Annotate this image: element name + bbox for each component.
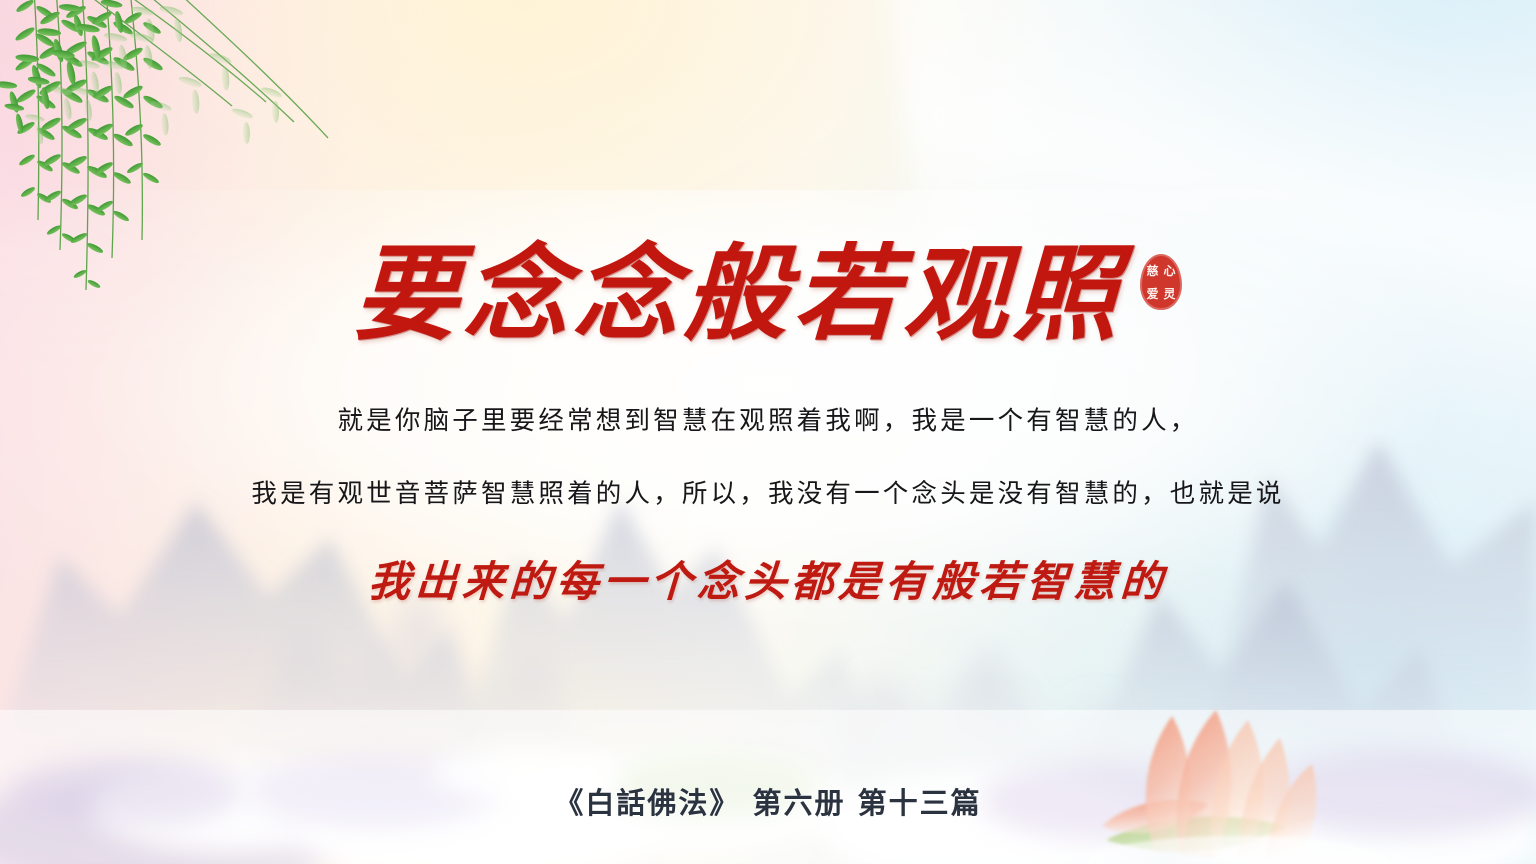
slide-content: 要念念般若观照 慈 心 爱 灵 就是你脑子里要经常想到智慧在观照着我啊，我是一个… (0, 0, 1536, 864)
body-line-2: 我是有观世音菩萨智慧照着的人，所以，我没有一个念头是没有智慧的，也就是说 (0, 473, 1536, 510)
seal-char-3: 爱 (1146, 288, 1158, 300)
seal-char-4: 灵 (1163, 288, 1175, 300)
seal-char-2: 心 (1163, 265, 1175, 277)
source-citation: 《白話佛法》 第六册 第十三篇 (0, 780, 1536, 822)
seal-characters: 慈 心 爱 灵 (1144, 259, 1178, 305)
title-row: 要念念般若观照 慈 心 爱 灵 (0, 238, 1536, 350)
body-line-1: 就是你脑子里要经常想到智慧在观照着我啊，我是一个有智慧的人， (0, 400, 1536, 437)
highlight-line: 我出来的每一个念头都是有般若智慧的 (0, 548, 1536, 609)
seal-stamp-icon: 慈 心 爱 灵 (1140, 254, 1182, 310)
seal-char-1: 慈 (1146, 265, 1158, 277)
slide-canvas: 要念念般若观照 慈 心 爱 灵 就是你脑子里要经常想到智慧在观照着我啊，我是一个… (0, 0, 1536, 864)
page-title: 要念念般若观照 (352, 238, 1126, 350)
